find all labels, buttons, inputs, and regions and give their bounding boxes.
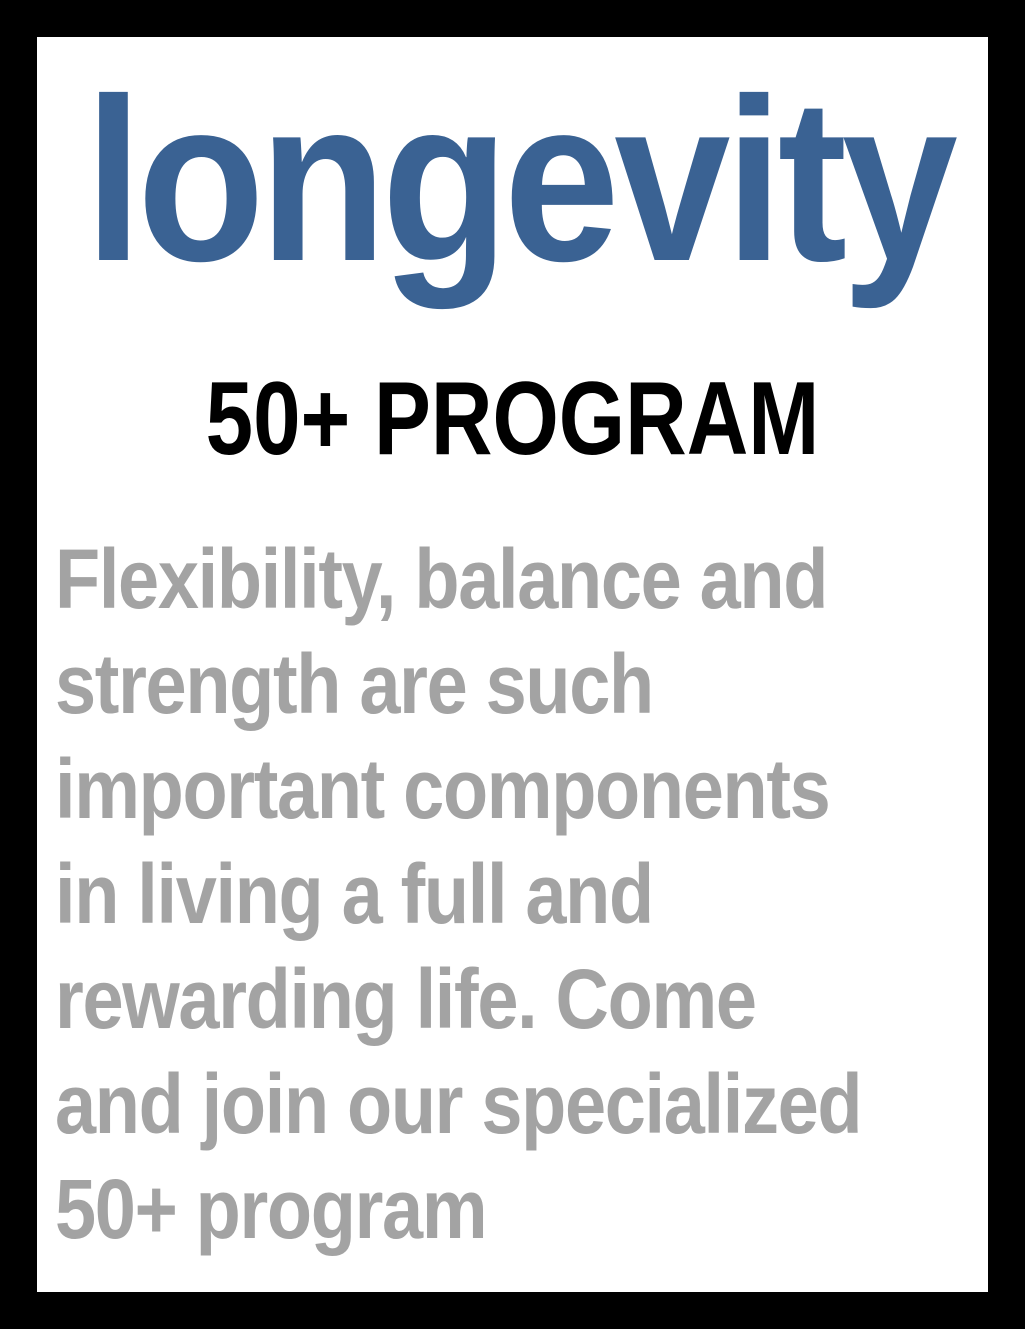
poster-frame: longevity 50+ PROGRAM Flexibility, balan… — [0, 0, 1025, 1329]
body-line: in living a full and — [55, 842, 847, 947]
poster-content-area: longevity 50+ PROGRAM Flexibility, balan… — [37, 37, 988, 1292]
body-line: and join our specialized — [55, 1052, 847, 1157]
body-line: important components — [55, 737, 847, 842]
body-line: strength are such — [55, 632, 847, 737]
body-copy: Flexibility, balance and strength are su… — [55, 527, 847, 1262]
brand-logo: longevity — [85, 65, 941, 297]
body-line: Flexibility, balance and — [55, 527, 847, 632]
page-title: 50+ PROGRAM — [123, 367, 903, 471]
body-line: rewarding life. Come — [55, 947, 847, 1052]
body-line: 50+ program — [55, 1157, 847, 1262]
